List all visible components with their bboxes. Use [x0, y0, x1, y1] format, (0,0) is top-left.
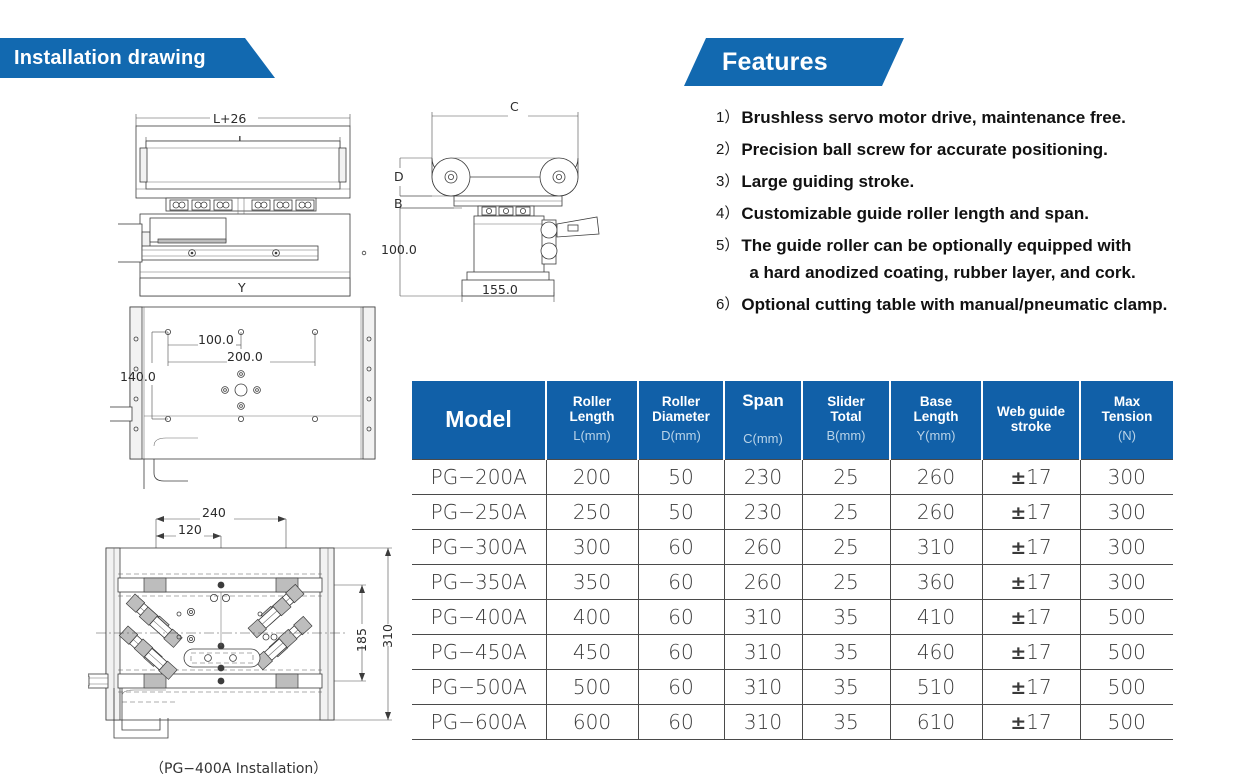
cell-base-length: 260	[890, 494, 982, 529]
cell-slider-total: 25	[802, 529, 890, 564]
cell-web-guide-stroke-value: 17	[1026, 605, 1051, 629]
feature-number: 3）	[716, 168, 741, 195]
cell-span: 310	[724, 669, 802, 704]
cell-web-guide-stroke-value: 17	[1026, 570, 1051, 594]
cell-web-guide-stroke-value: 17	[1026, 640, 1051, 664]
cell-max-tension: 500	[1080, 634, 1173, 669]
feature-number: 6）	[716, 291, 741, 318]
dimension-label: B	[394, 196, 403, 211]
dimension-label: 310	[380, 624, 395, 648]
features-list: 1） Brushless servo motor drive, maintena…	[716, 104, 1244, 323]
feature-item: 3） Large guiding stroke.	[716, 168, 1244, 195]
column-header-web-guide-stroke: Web guide stroke	[982, 381, 1080, 459]
column-header-line2: stroke	[985, 419, 1077, 434]
feature-text: Optional cutting table with manual/pneum…	[741, 291, 1167, 318]
cell-base-length: 260	[890, 459, 982, 494]
column-header-line1: Max	[1083, 394, 1171, 409]
cell-slider-total: 35	[802, 634, 890, 669]
cell-max-tension: 300	[1080, 459, 1173, 494]
cell-web-guide-stroke: ±17	[982, 529, 1080, 564]
column-header-max-tension: Max Tension (N)	[1080, 381, 1173, 459]
installation-drawing-banner-label: Installation drawing	[14, 47, 206, 70]
cell-base-length: 360	[890, 564, 982, 599]
plus-minus-symbol: ±	[1010, 712, 1026, 734]
technical-drawings: L+26 L	[0, 88, 660, 778]
drawing-caption: （PG−400A Installation）	[150, 758, 327, 778]
cell-slider-total: 35	[802, 599, 890, 634]
feature-text-line2: a hard anodized coating, rubber layer, a…	[741, 259, 1135, 286]
column-header-slider-total: Slider Total B(mm)	[802, 381, 890, 459]
feature-number: 4）	[716, 200, 741, 227]
feature-number: 5）	[716, 232, 741, 259]
features-banner-label: Features	[722, 48, 828, 77]
cell-span: 260	[724, 564, 802, 599]
cell-span: 310	[724, 704, 802, 739]
plan-view-drawing: 100.0 200.0 140.0	[110, 303, 410, 513]
column-header-base-length: Base Length Y(mm)	[890, 381, 982, 459]
cell-web-guide-stroke-value: 17	[1026, 710, 1051, 734]
dimension-label: 100.0	[382, 242, 417, 257]
dimension-label: 100.0	[198, 332, 234, 347]
column-header-unit: B(mm)	[805, 427, 887, 444]
cell-web-guide-stroke: ±17	[982, 704, 1080, 739]
cell-base-length: 460	[890, 634, 982, 669]
feature-item: 1） Brushless servo motor drive, maintena…	[716, 104, 1244, 131]
feature-number: 1）	[716, 104, 741, 131]
cell-web-guide-stroke: ±17	[982, 459, 1080, 494]
column-header-line1: Slider	[805, 394, 887, 409]
bearing-blocks	[166, 198, 316, 214]
dimension-height-100: 100.0	[382, 208, 462, 296]
adjust-handle	[541, 217, 599, 264]
dimension-label: L+26	[213, 111, 246, 126]
column-header-span: Span C(mm)	[724, 381, 802, 459]
dimension-b: B	[394, 196, 454, 211]
cell-span: 310	[724, 634, 802, 669]
cell-base-length: 410	[890, 599, 982, 634]
feature-text: Precision ball screw for accurate positi…	[741, 136, 1108, 163]
cell-web-guide-stroke: ±17	[982, 669, 1080, 704]
column-header-line1: Base	[893, 394, 979, 409]
installation-drawing-banner: Installation drawing	[0, 38, 275, 78]
feature-item: 2） Precision ball screw for accurate pos…	[716, 136, 1244, 163]
cell-slider-total: 25	[802, 459, 890, 494]
features-banner: Features	[684, 38, 904, 86]
plus-minus-symbol: ±	[1010, 502, 1026, 524]
cell-web-guide-stroke-value: 17	[1026, 675, 1051, 699]
cell-span: 230	[724, 494, 802, 529]
column-header-line1: Span	[727, 391, 799, 410]
feature-item: 6） Optional cutting table with manual/pn…	[716, 291, 1244, 318]
dimension-l-plus-26: L+26	[136, 111, 350, 126]
cell-web-guide-stroke: ±17	[982, 599, 1080, 634]
cell-web-guide-stroke-value: 17	[1026, 465, 1051, 489]
cell-span: 310	[724, 599, 802, 634]
dimension-label: 140.0	[120, 369, 156, 384]
cell-slider-total: 35	[802, 669, 890, 704]
dimension-label: 240	[202, 506, 226, 520]
plus-minus-symbol: ±	[1010, 537, 1026, 559]
cell-base-length: 310	[890, 529, 982, 564]
cell-slider-total: 25	[802, 494, 890, 529]
cell-max-tension: 300	[1080, 564, 1173, 599]
cell-max-tension: 300	[1080, 529, 1173, 564]
dimension-label: 200.0	[227, 349, 263, 364]
feature-text: Large guiding stroke.	[741, 168, 914, 195]
column-header-line2: Total	[805, 409, 887, 424]
cell-web-guide-stroke-value: 17	[1026, 500, 1051, 524]
dimension-c: C	[432, 99, 578, 158]
cell-max-tension: 500	[1080, 704, 1173, 739]
cell-base-length: 510	[890, 669, 982, 704]
plus-minus-symbol: ±	[1010, 642, 1026, 664]
cell-web-guide-stroke: ±17	[982, 494, 1080, 529]
dimension-label: Y	[237, 280, 246, 295]
cell-max-tension: 500	[1080, 599, 1173, 634]
dimension-label: 120	[178, 522, 202, 537]
feature-text: The guide roller can be optionally equip…	[741, 232, 1135, 286]
column-header-unit: C(mm)	[727, 430, 799, 447]
column-header-line2: Length	[893, 409, 979, 424]
feature-item: 4） Customizable guide roller length and …	[716, 200, 1244, 227]
dimension-label: 185	[354, 628, 369, 652]
dimension-d: D	[394, 158, 432, 196]
feature-number: 2）	[716, 136, 741, 163]
bottom-installation-drawing: 240 120	[88, 506, 418, 766]
cell-slider-total: 35	[802, 704, 890, 739]
feature-text-line1: The guide roller can be optionally equip…	[741, 236, 1131, 255]
front-elevation-drawing: L+26 L	[118, 96, 418, 316]
column-header-line1: Web guide	[985, 404, 1077, 419]
plus-minus-symbol: ±	[1010, 572, 1026, 594]
cell-web-guide-stroke-value: 17	[1026, 535, 1051, 559]
cell-web-guide-stroke: ±17	[982, 634, 1080, 669]
cell-web-guide-stroke: ±17	[982, 564, 1080, 599]
dimension-label: C	[510, 99, 519, 114]
cell-span: 260	[724, 529, 802, 564]
plus-minus-symbol: ±	[1010, 467, 1026, 489]
cell-slider-total: 25	[802, 564, 890, 599]
column-header-line2: Tension	[1083, 409, 1171, 424]
column-header-unit: Y(mm)	[893, 427, 979, 444]
dimension-label: D	[394, 169, 404, 184]
plus-minus-symbol: ±	[1010, 607, 1026, 629]
feature-item: 5） The guide roller can be optionally eq…	[716, 232, 1244, 286]
cell-span: 230	[724, 459, 802, 494]
feature-text: Customizable guide roller length and spa…	[741, 200, 1089, 227]
side-view-drawing: C D B 1	[382, 96, 612, 316]
column-header-unit: (N)	[1083, 427, 1171, 444]
feature-text: Brushless servo motor drive, maintenance…	[741, 104, 1126, 131]
cell-max-tension: 500	[1080, 669, 1173, 704]
plus-minus-symbol: ±	[1010, 677, 1026, 699]
dimension-label: 155.0	[482, 282, 518, 297]
cell-max-tension: 300	[1080, 494, 1173, 529]
cell-base-length: 610	[890, 704, 982, 739]
